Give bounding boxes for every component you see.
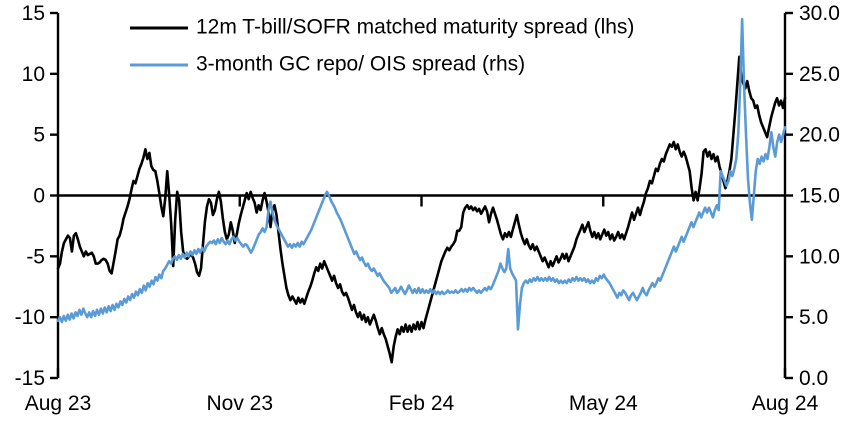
x-tick-label-2: Feb 24 (389, 392, 455, 415)
x-tick-label-4: Aug 24 (752, 392, 819, 415)
chart-container: 151050-5-10-1530.025.020.015.010.05.00.0… (0, 0, 852, 432)
right-tick-label-5: 5.0 (799, 306, 828, 329)
left-tick-label-0: 15 (22, 2, 45, 25)
left-tick-label-2: 5 (33, 124, 45, 147)
legend-label-0: 12m T-bill/SOFR matched maturity spread … (196, 16, 634, 39)
series-line-0 (58, 57, 785, 362)
left-tick-label-1: 10 (22, 63, 45, 86)
right-tick-label-4: 10.0 (799, 245, 840, 268)
chart-legend: 12m T-bill/SOFR matched maturity spread … (130, 16, 634, 76)
x-tick-label-3: May 24 (569, 392, 638, 415)
right-tick-label-0: 30.0 (799, 2, 840, 25)
left-tick-label-5: -10 (15, 306, 45, 329)
left-tick-label-6: -15 (15, 367, 45, 390)
left-tick-label-4: -5 (26, 245, 45, 268)
line-chart: 151050-5-10-1530.025.020.015.010.05.00.0… (0, 0, 852, 432)
right-tick-label-3: 15.0 (799, 185, 840, 208)
right-tick-label-6: 0.0 (799, 367, 828, 390)
right-tick-label-2: 20.0 (799, 124, 840, 147)
legend-label-1: 3-month GC repo/ OIS spread (rhs) (196, 53, 525, 76)
left-tick-label-3: 0 (33, 185, 45, 208)
right-tick-label-1: 25.0 (799, 63, 840, 86)
x-tick-label-0: Aug 23 (25, 392, 92, 415)
x-tick-label-1: Nov 23 (206, 392, 273, 415)
